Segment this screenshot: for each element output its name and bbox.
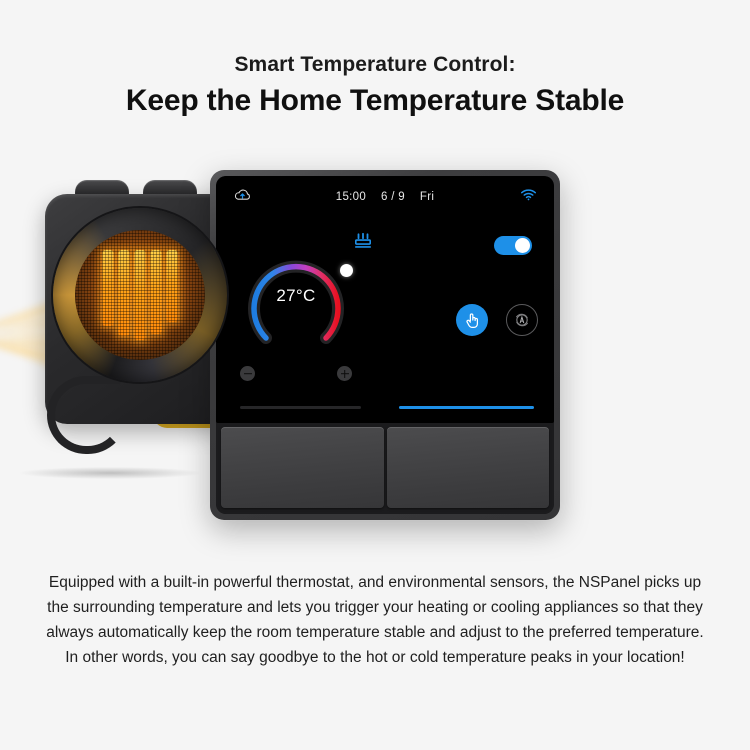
nspanel-device: 15:00 6 / 9 Fri: [210, 170, 560, 520]
heater-icon[interactable]: [353, 232, 373, 255]
auto-mode-button[interactable]: [506, 304, 538, 336]
temperature-value: 27°C: [240, 286, 352, 306]
heater-front-ring: [53, 208, 227, 382]
decrease-temperature-button[interactable]: [240, 366, 255, 381]
thermostat-pane: 27°C: [216, 218, 385, 423]
device-screen[interactable]: 15:00 6 / 9 Fri: [216, 176, 554, 423]
heading-subtitle: Smart Temperature Control:: [0, 52, 750, 78]
page-title: Keep the Home Temperature Stable: [0, 83, 750, 119]
temperature-dial[interactable]: 27°C: [240, 242, 352, 354]
controls-pane: [385, 218, 554, 423]
heading-block: Smart Temperature Control: Keep the Home…: [0, 0, 750, 119]
grille-mesh: [75, 230, 205, 360]
device-inner-frame: 15:00 6 / 9 Fri: [216, 176, 554, 514]
description-text: Equipped with a built-in powerful thermo…: [0, 570, 750, 670]
hand-touch-icon: [463, 311, 481, 329]
increase-temperature-button[interactable]: [337, 366, 352, 381]
temperature-stepper: [240, 366, 352, 381]
heater-body: [45, 180, 235, 480]
heater-handle: [47, 376, 127, 454]
cloud-upload-icon: [234, 188, 251, 206]
left-progress-bar[interactable]: [240, 406, 361, 409]
mode-buttons: [456, 304, 538, 336]
screen-body: 27°C: [216, 218, 554, 423]
manual-mode-button[interactable]: [456, 304, 488, 336]
hero-stage: 15:00 6 / 9 Fri: [0, 145, 750, 545]
status-bar: [216, 176, 554, 218]
dial-handle[interactable]: [340, 264, 353, 277]
left-rocker-button[interactable]: [221, 427, 384, 508]
toggle-nub: [515, 238, 530, 253]
right-rocker-button[interactable]: [387, 427, 550, 508]
wifi-icon: [521, 188, 536, 206]
physical-buttons: [216, 423, 554, 514]
auto-circle-icon: [512, 310, 532, 330]
heater-grille: [75, 230, 205, 360]
heater-shadow: [20, 467, 200, 479]
power-toggle[interactable]: [494, 236, 532, 255]
right-progress-bar[interactable]: [399, 406, 534, 409]
